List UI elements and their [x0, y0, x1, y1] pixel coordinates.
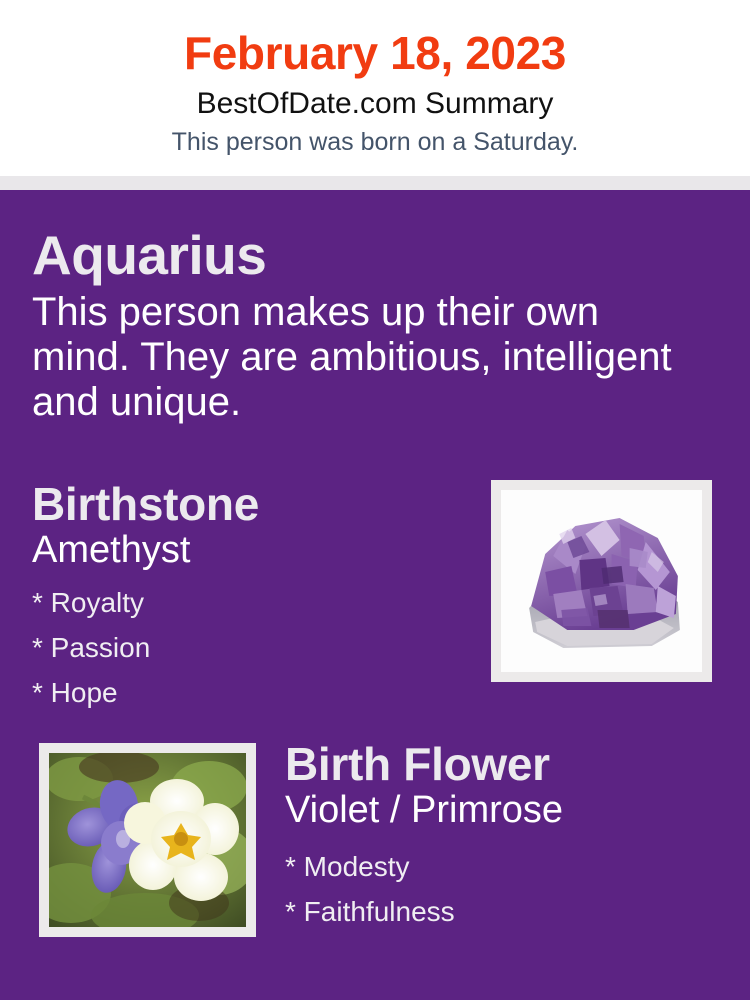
zodiac-section: Aquarius This person makes up their own … [0, 190, 750, 425]
birthstone-trait-list: * Royalty * Passion * Hope [32, 580, 472, 715]
zodiac-sign-name: Aquarius [32, 226, 718, 284]
header-divider [0, 176, 750, 190]
site-summary-label: BestOfDate.com Summary [0, 84, 750, 124]
infographic-page: February 18, 2023 BestOfDate.com Summary… [0, 0, 750, 1000]
born-day-label: This person was born on a Saturday. [0, 125, 750, 159]
birth-flower-heading: Birth Flower [285, 738, 715, 790]
list-item: * Passion [32, 625, 472, 670]
page-header: February 18, 2023 BestOfDate.com Summary… [0, 0, 750, 176]
birth-flower-image [49, 753, 246, 927]
list-item: * Faithfulness [285, 889, 715, 934]
birthstone-section: Birthstone Amethyst * Royalty * Passion … [32, 478, 472, 715]
page-title: February 18, 2023 [0, 24, 750, 82]
birth-flower-image-frame [39, 743, 256, 937]
violet-primrose-flower-icon [49, 753, 246, 927]
zodiac-description: This person makes up their own mind. The… [32, 290, 692, 425]
content-panel: Aquarius This person makes up their own … [0, 190, 750, 1000]
list-item: * Royalty [32, 580, 472, 625]
birthstone-image-frame [491, 480, 712, 682]
list-item: * Modesty [285, 844, 715, 889]
birthstone-heading: Birthstone [32, 478, 472, 530]
birthstone-image [501, 490, 702, 672]
birth-flower-section: Birth Flower Violet / Primrose * Modesty… [285, 738, 715, 934]
birth-flower-trait-list: * Modesty * Faithfulness [285, 844, 715, 934]
birthstone-name: Amethyst [32, 528, 472, 572]
list-item: * Hope [32, 670, 472, 715]
birth-flower-name: Violet / Primrose [285, 788, 715, 832]
amethyst-crystal-icon [501, 490, 702, 672]
